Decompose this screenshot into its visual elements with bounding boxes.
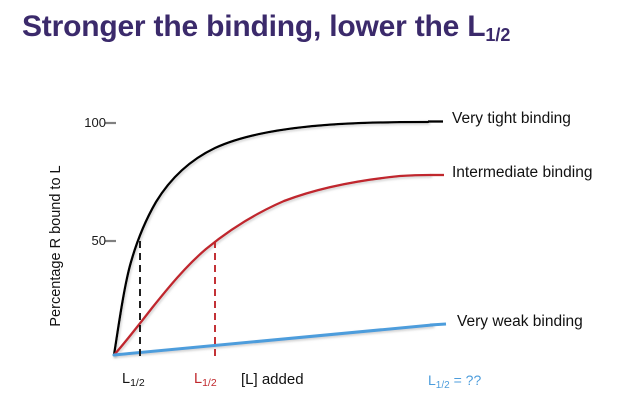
lhalf-label-tight: L1/2	[122, 371, 145, 389]
lhalf-label-intermediate: L1/2	[194, 371, 217, 389]
chart-svg	[0, 0, 644, 414]
lhalf-label-weak-sub: 1/2	[436, 380, 450, 391]
lhalf-label-intermediate-sub: 1/2	[202, 377, 217, 389]
curve-annotation-intermediate: Intermediate binding	[452, 164, 592, 182]
curve-very-tight-binding	[114, 122, 428, 355]
lhalf-label-tight-text: L	[122, 371, 130, 387]
lhalf-label-weak: L1/2 = ??	[428, 372, 481, 391]
curve-annotation-very-weak: Very weak binding	[457, 313, 583, 331]
curve-very-weak-binding	[114, 325, 432, 355]
lhalf-label-weak-value: = ??	[450, 372, 482, 388]
y-tick-label-50: 50	[62, 233, 106, 248]
x-axis-title: [L] added	[241, 371, 304, 388]
curve-intermediate-binding	[114, 175, 430, 355]
legend-dash-weak	[430, 324, 446, 325]
curve-annotation-very-tight: Very tight binding	[452, 110, 571, 128]
lhalf-label-weak-text: L	[428, 372, 436, 388]
binding-curve-chart: 100 50 Percentage R bound to L [L] added…	[0, 0, 644, 414]
lhalf-label-tight-sub: 1/2	[130, 377, 145, 389]
lhalf-label-intermediate-text: L	[194, 371, 202, 387]
y-axis-title: Percentage R bound to L	[48, 146, 64, 346]
y-tick-label-100: 100	[62, 115, 106, 130]
